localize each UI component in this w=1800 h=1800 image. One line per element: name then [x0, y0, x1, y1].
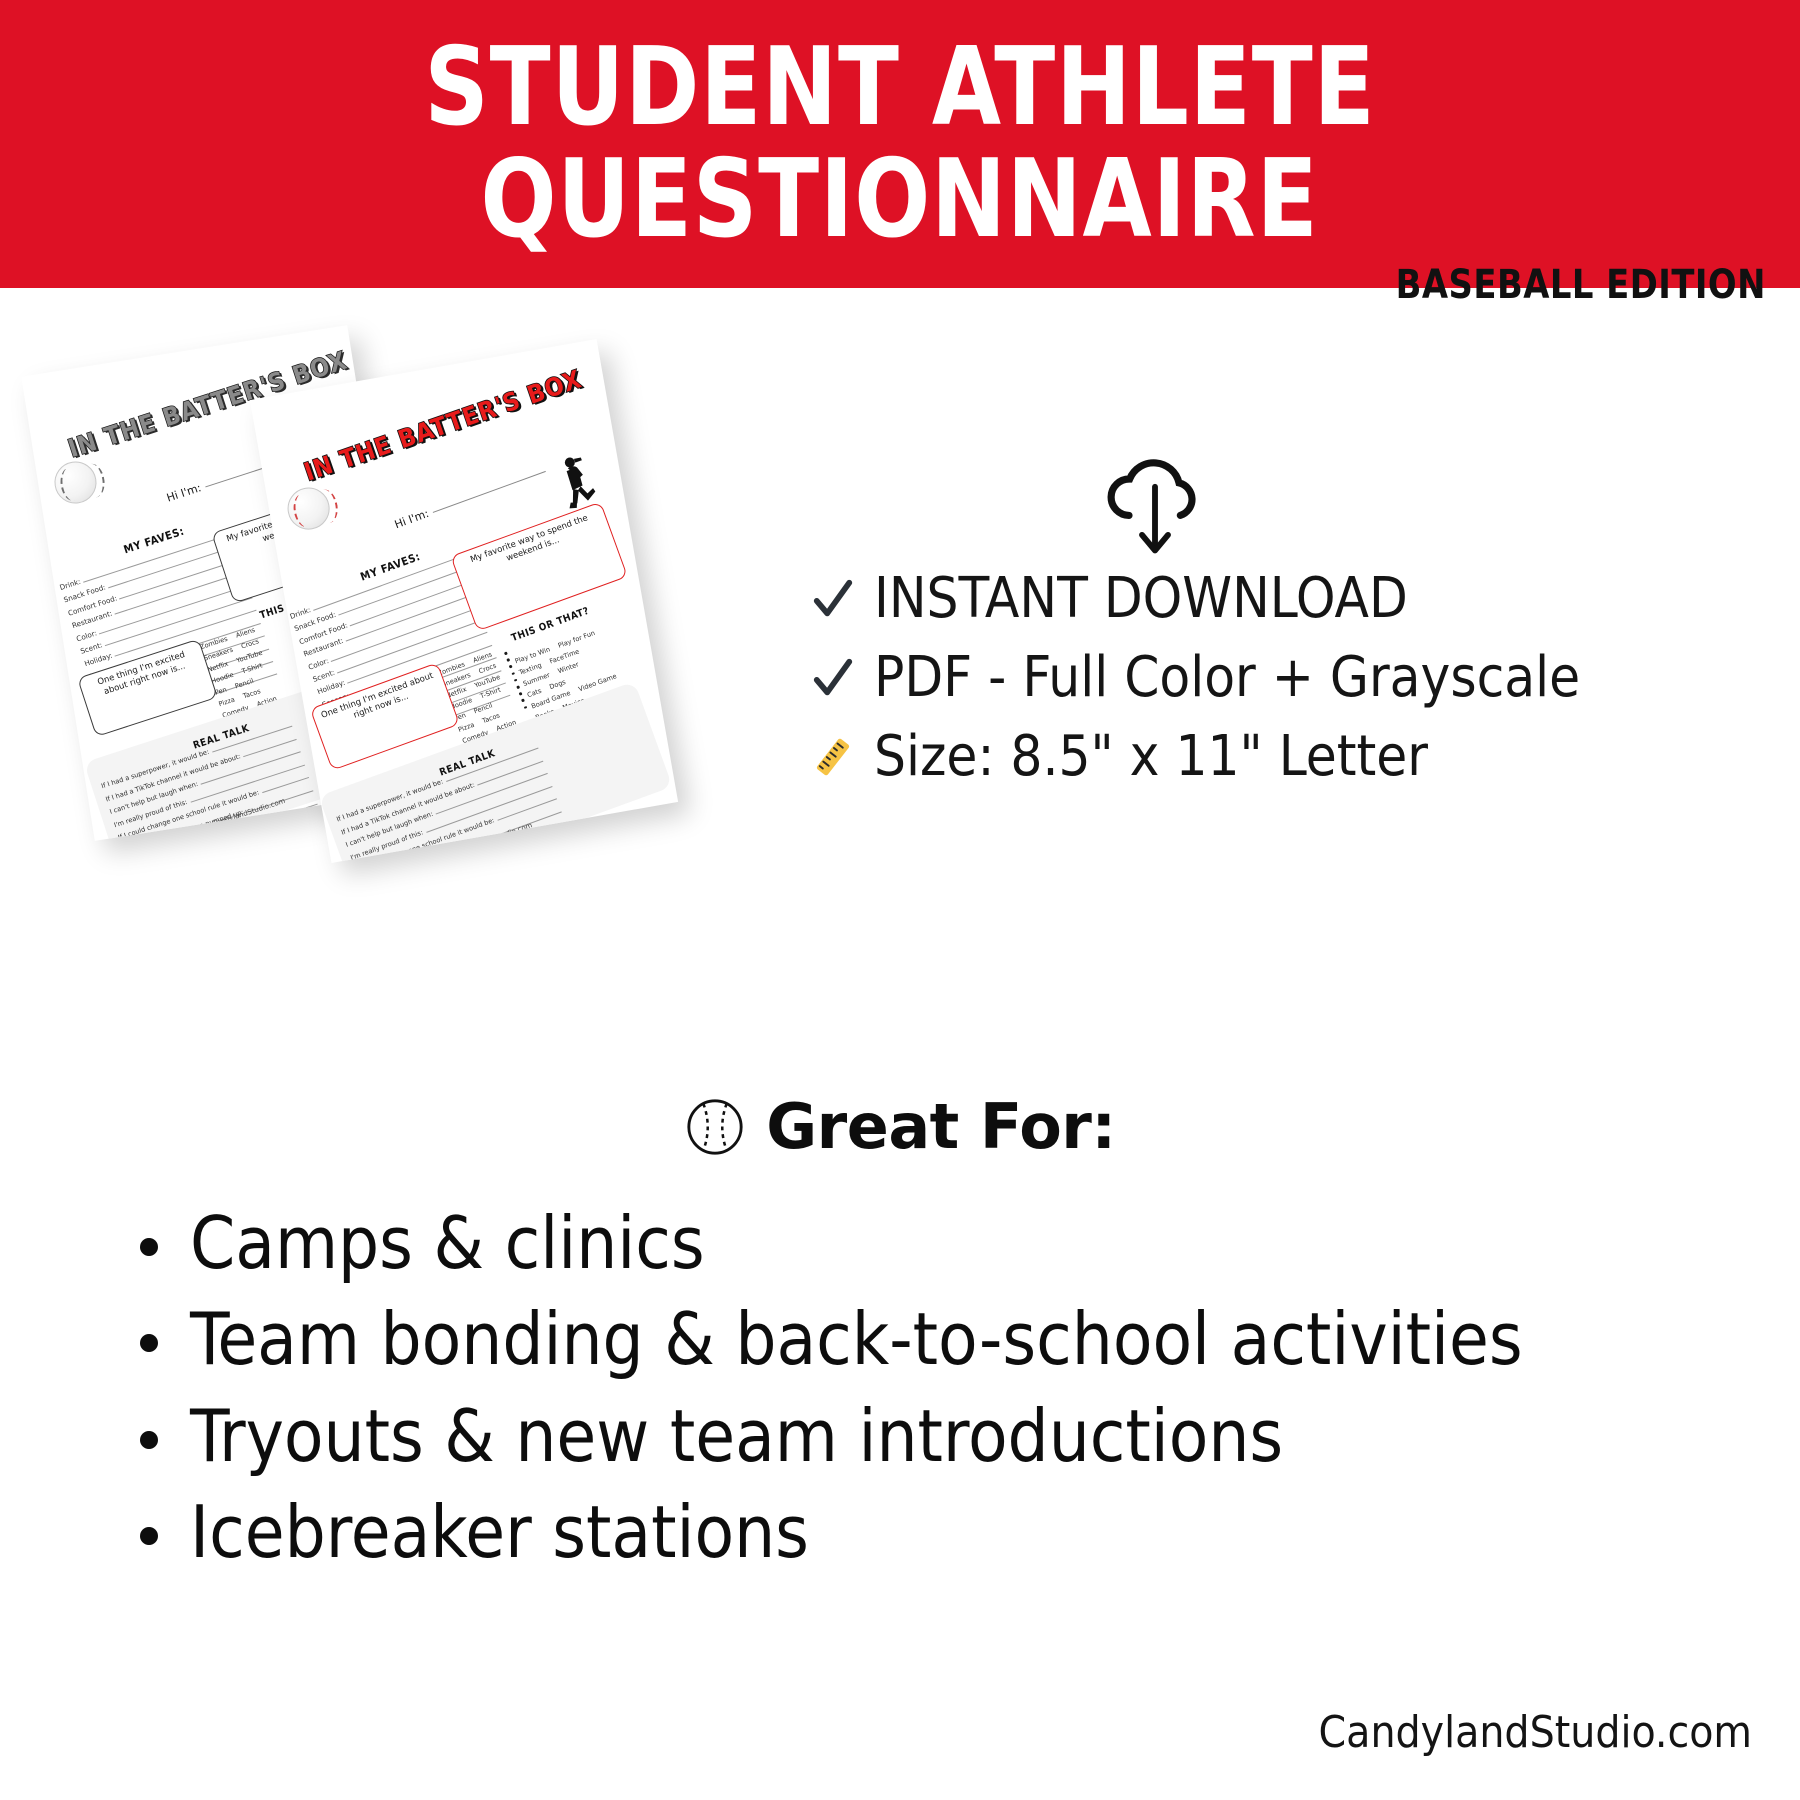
- great-for-heading: Great For:: [0, 1090, 1800, 1163]
- hi-im-label-color: Hi I'm:: [393, 507, 431, 531]
- worksheet-mockups: IN THE BATTER'S BOX Hi I'm: MY FAVES: Dr…: [40, 330, 760, 890]
- weekend-box-color: My favorite way to spend the weekend is.…: [450, 501, 628, 631]
- weekend-box-text-color: My favorite way to spend the weekend is.…: [452, 503, 609, 582]
- bullet-dot-icon: [140, 1334, 158, 1352]
- edition-label: BASEBALL EDITION: [1396, 262, 1766, 308]
- bullet-dot-icon: [140, 1238, 158, 1256]
- bullet-dot-icon: [140, 1431, 158, 1449]
- list-item: Camps & clinics: [140, 1205, 1760, 1281]
- hi-im-line-color: Hi I'm:: [393, 465, 547, 532]
- feature-list: INSTANT DOWNLOAD PDF - Full Color + Gray…: [810, 570, 1780, 807]
- list-item-label: Tryouts & new team introductions: [190, 1398, 1283, 1474]
- site-footer: CandylandStudio.com: [1319, 1707, 1752, 1758]
- feature-label: INSTANT DOWNLOAD: [874, 570, 1408, 627]
- banner-title-line-2: QUESTIONNAIRE: [481, 144, 1319, 256]
- baseball-graphic-gray: [51, 458, 99, 506]
- feature-item: INSTANT DOWNLOAD: [810, 570, 1780, 627]
- list-item: Icebreaker stations: [140, 1494, 1760, 1570]
- bullet-dot-icon: [140, 1527, 158, 1545]
- list-item-label: Camps & clinics: [190, 1205, 705, 1281]
- list-item: Team bonding & back-to-school activities: [140, 1301, 1760, 1377]
- ruler-icon: [810, 734, 856, 780]
- banner-title-line-1: STUDENT ATHLETE: [424, 32, 1375, 144]
- list-item-label: Team bonding & back-to-school activities: [190, 1301, 1523, 1377]
- feature-label: Size: 8.5" x 11" Letter: [874, 728, 1428, 785]
- list-item: Tryouts & new team introductions: [140, 1398, 1760, 1474]
- cloud-download-icon: [1090, 440, 1220, 570]
- great-for-title: Great For:: [766, 1090, 1115, 1163]
- list-item-label: Icebreaker stations: [190, 1494, 809, 1570]
- check-icon: [810, 576, 856, 622]
- check-icon: [810, 655, 856, 701]
- header-banner: STUDENT ATHLETE QUESTIONNAIRE: [0, 0, 1800, 288]
- feature-item: PDF - Full Color + Grayscale: [810, 649, 1780, 706]
- feature-item: Size: 8.5" x 11" Letter: [810, 728, 1780, 785]
- baseball-icon: [684, 1096, 746, 1158]
- hi-im-label-gray: Hi I'm:: [165, 481, 203, 504]
- feature-label: PDF - Full Color + Grayscale: [874, 649, 1580, 706]
- great-for-bullet-list: Camps & clinics Team bonding & back-to-s…: [140, 1205, 1760, 1590]
- baseball-graphic-color: [284, 484, 333, 533]
